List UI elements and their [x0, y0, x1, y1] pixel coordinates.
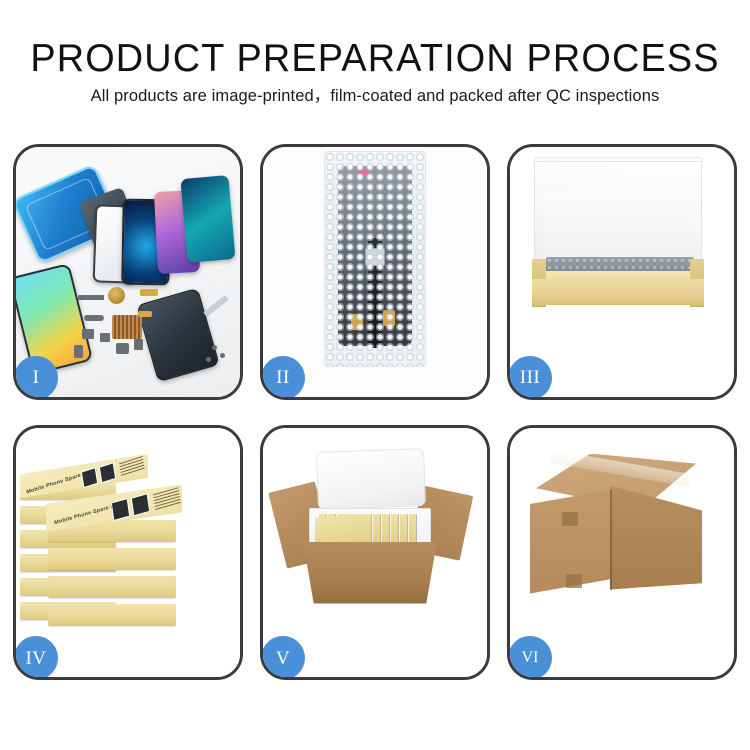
step-3-illustration [510, 147, 734, 397]
small-part-graphic [84, 315, 104, 321]
product-preparation-infographic: PRODUCT PREPARATION PROCESS All products… [0, 0, 750, 750]
speaker-coil-graphic [108, 287, 125, 304]
step-1-badge: I [14, 356, 58, 400]
screw-graphic [212, 345, 217, 350]
bubble-texture [325, 152, 425, 366]
header: PRODUCT PREPARATION PROCESS All products… [0, 0, 750, 128]
box-print-screen-graphic [111, 497, 130, 520]
box-print-lines-graphic [153, 487, 181, 512]
flex-cable-graphic [138, 311, 152, 317]
box-print-screen-graphic [99, 462, 116, 483]
stacked-box-graphic [48, 548, 176, 570]
foam-lid-graphic [316, 448, 426, 510]
carton-corner-seam-graphic [610, 490, 612, 590]
carton-right-face-graphic [610, 486, 702, 590]
tray-front-graphic [532, 279, 704, 305]
phone-back-housing-graphic [136, 288, 220, 383]
small-part-graphic [116, 343, 129, 354]
white-foam-graphic [544, 193, 690, 267]
step-4-illustration: Mobile Phone Spare Parts Mobile Phone Sp… [16, 428, 240, 678]
step-2-illustration [263, 147, 487, 397]
process-step-2: II [260, 144, 490, 400]
step-6-illustration [510, 428, 734, 678]
page-title: PRODUCT PREPARATION PROCESS [11, 36, 739, 82]
box-print-screen-graphic [131, 493, 150, 516]
process-step-1: I [13, 144, 243, 400]
carton-tab-graphic [566, 574, 582, 588]
process-step-4: Mobile Phone Spare Parts Mobile Phone Sp… [13, 425, 243, 681]
stacked-box-graphic [48, 576, 176, 598]
chip-board-graphic [112, 315, 142, 339]
process-step-3: III [507, 144, 737, 400]
flex-cable-graphic [140, 289, 158, 296]
box-print-lines-graphic [119, 455, 145, 477]
page-subtitle: All products are image-printed，film-coat… [0, 85, 750, 107]
screw-graphic [220, 353, 225, 358]
step-2-badge: II [261, 356, 305, 400]
small-part-graphic [134, 339, 143, 350]
step-4-badge: IV [14, 636, 58, 680]
tweezers-graphic [203, 295, 229, 317]
screw-graphic [206, 357, 211, 362]
carton-body-graphic [303, 542, 437, 604]
carton-tab-graphic [562, 512, 578, 526]
step-5-badge: V [261, 636, 305, 680]
process-step-5: V [260, 425, 490, 681]
step-1-illustration [16, 147, 240, 397]
small-part-graphic [100, 333, 110, 342]
step-5-illustration [263, 428, 487, 678]
small-part-graphic [78, 295, 104, 300]
stacked-box-graphic [48, 604, 176, 626]
teal-phone-graphic [180, 175, 235, 263]
process-step-6: VI [507, 425, 737, 681]
bubble-wrap-bag-graphic [324, 151, 426, 367]
box-print-screen-graphic [81, 467, 98, 488]
step-3-badge: III [508, 356, 552, 400]
sim-tray-graphic [74, 345, 83, 358]
small-part-graphic [82, 329, 94, 339]
process-step-grid: I II [13, 144, 737, 680]
step-6-badge: VI [508, 636, 552, 680]
